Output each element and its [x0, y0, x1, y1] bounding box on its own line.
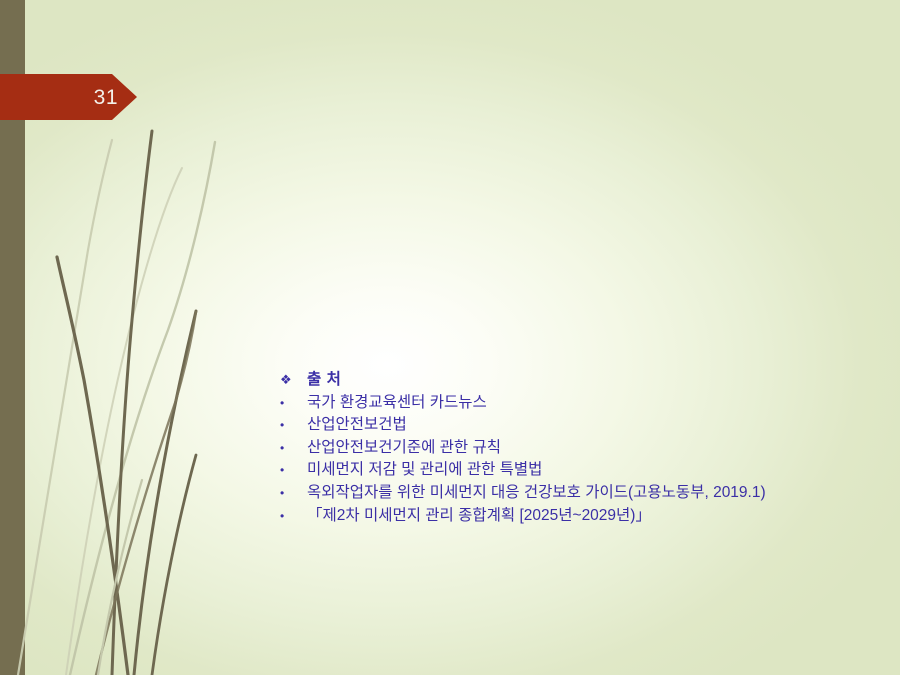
list-item: • 옥외작업자를 위한 미세먼지 대응 건강보호 가이드(고용노동부, 2019… [276, 482, 891, 505]
list-item: • 미세먼지 저감 및 관리에 관한 특별법 [276, 459, 891, 482]
dot-bullet-icon: • [276, 482, 307, 505]
dot-bullet-icon: • [276, 392, 307, 415]
presentation-slide: 31 ❖ 출 처 • 국가 환경교육센터 카드뉴스 • 산업안전보건법 • 산업… [0, 0, 900, 675]
dot-bullet-icon: • [276, 414, 307, 437]
dot-bullet-icon: • [276, 437, 307, 460]
list-item: • 산업안전보건기준에 관한 규칙 [276, 437, 891, 460]
list-item-label: 국가 환경교육센터 카드뉴스 [307, 392, 487, 415]
list-item: ❖ 출 처 [276, 369, 891, 392]
list-item: • 「제2차 미세먼지 관리 종합계획 [2025년~2029년)」 [276, 505, 891, 528]
list-item-label: 산업안전보건기준에 관한 규칙 [307, 437, 501, 460]
list-item-label: 「제2차 미세먼지 관리 종합계획 [2025년~2029년)」 [307, 505, 651, 528]
dot-bullet-icon: • [276, 459, 307, 482]
list-item-label: 출 처 [307, 369, 341, 392]
list-item: • 국가 환경교육센터 카드뉴스 [276, 392, 891, 415]
list-item-label: 옥외작업자를 위한 미세먼지 대응 건강보호 가이드(고용노동부, 2019.1… [307, 482, 766, 505]
list-item-label: 미세먼지 저감 및 관리에 관한 특별법 [307, 459, 542, 482]
slide-number: 31 [0, 74, 118, 120]
list-item-label: 산업안전보건법 [307, 414, 407, 437]
dot-bullet-icon: • [276, 505, 307, 528]
list-item: • 산업안전보건법 [276, 414, 891, 437]
diamond-bullet-icon: ❖ [276, 369, 307, 392]
source-list: ❖ 출 처 • 국가 환경교육센터 카드뉴스 • 산업안전보건법 • 산업안전보… [276, 369, 891, 527]
